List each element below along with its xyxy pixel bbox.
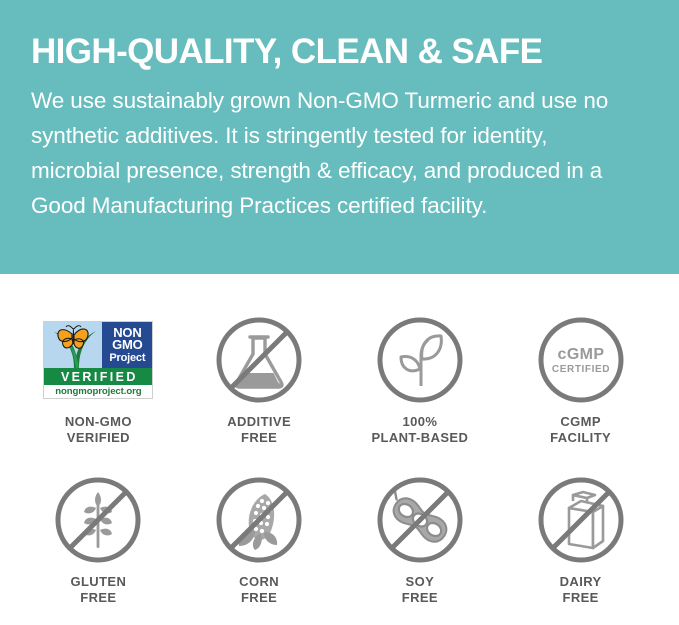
soy-pod-crossed-out-icon: [376, 474, 464, 566]
hero-banner: HIGH-QUALITY, CLEAN & SAFE We use sustai…: [0, 0, 679, 274]
badge-label: 100% PLANT-BASED: [371, 414, 468, 446]
svg-text:cGMP: cGMP: [557, 346, 604, 363]
badge-soy-free: SOY FREE: [340, 474, 501, 606]
seal-line-gmo: GMO: [112, 339, 142, 352]
flask-crossed-out-icon: [215, 314, 303, 406]
badge-row-1: NON GMO Project VERIFIED nongmoproject.o…: [0, 314, 679, 446]
wheat-crossed-out-icon: [54, 474, 142, 566]
svg-text:CERTIFIED: CERTIFIED: [552, 364, 610, 375]
non-gmo-project-wordmark: NON GMO Project: [102, 322, 152, 368]
badge-label: SOY FREE: [402, 574, 438, 606]
certification-badge-grid: NON GMO Project VERIFIED nongmoproject.o…: [0, 274, 679, 625]
seal-url: nongmoproject.org: [44, 385, 152, 398]
seal-line-project: Project: [109, 352, 145, 365]
badge-plant-based: 100% PLANT-BASED: [340, 314, 501, 446]
hero-description: We use sustainably grown Non-GMO Turmeri…: [31, 83, 641, 223]
badge-label: DAIRY FREE: [560, 574, 602, 606]
product-feature-panel: HIGH-QUALITY, CLEAN & SAFE We use sustai…: [0, 0, 679, 625]
badge-label: ADDITIVE FREE: [227, 414, 291, 446]
cgmp-certified-circle-icon: cGMP CERTIFIED: [537, 314, 625, 406]
badge-label: CGMP FACILITY: [550, 414, 611, 446]
badge-cgmp-facility: cGMP CERTIFIED CGMP FACILITY: [500, 314, 661, 446]
badge-label: GLUTEN FREE: [70, 574, 126, 606]
badge-additive-free: ADDITIVE FREE: [179, 314, 340, 446]
badge-dairy-free: DAIRY FREE: [500, 474, 661, 606]
badge-label: CORN FREE: [239, 574, 279, 606]
milk-carton-crossed-out-icon: [537, 474, 625, 566]
sprout-leaf-icon: [376, 314, 464, 406]
badge-gluten-free: GLUTEN FREE: [18, 474, 179, 606]
badge-corn-free: CORN FREE: [179, 474, 340, 606]
badge-label: NON-GMO VERIFIED: [65, 414, 132, 446]
butterfly-grass-icon: [44, 322, 102, 368]
badge-row-2: GLUTEN FREE: [0, 474, 679, 606]
non-gmo-project-seal-icon: NON GMO Project VERIFIED nongmoproject.o…: [43, 314, 153, 406]
seal-verified-bar: VERIFIED: [44, 368, 152, 385]
badge-non-gmo-verified: NON GMO Project VERIFIED nongmoproject.o…: [18, 314, 179, 446]
corn-crossed-out-icon: [215, 474, 303, 566]
page-title: HIGH-QUALITY, CLEAN & SAFE: [31, 30, 647, 74]
